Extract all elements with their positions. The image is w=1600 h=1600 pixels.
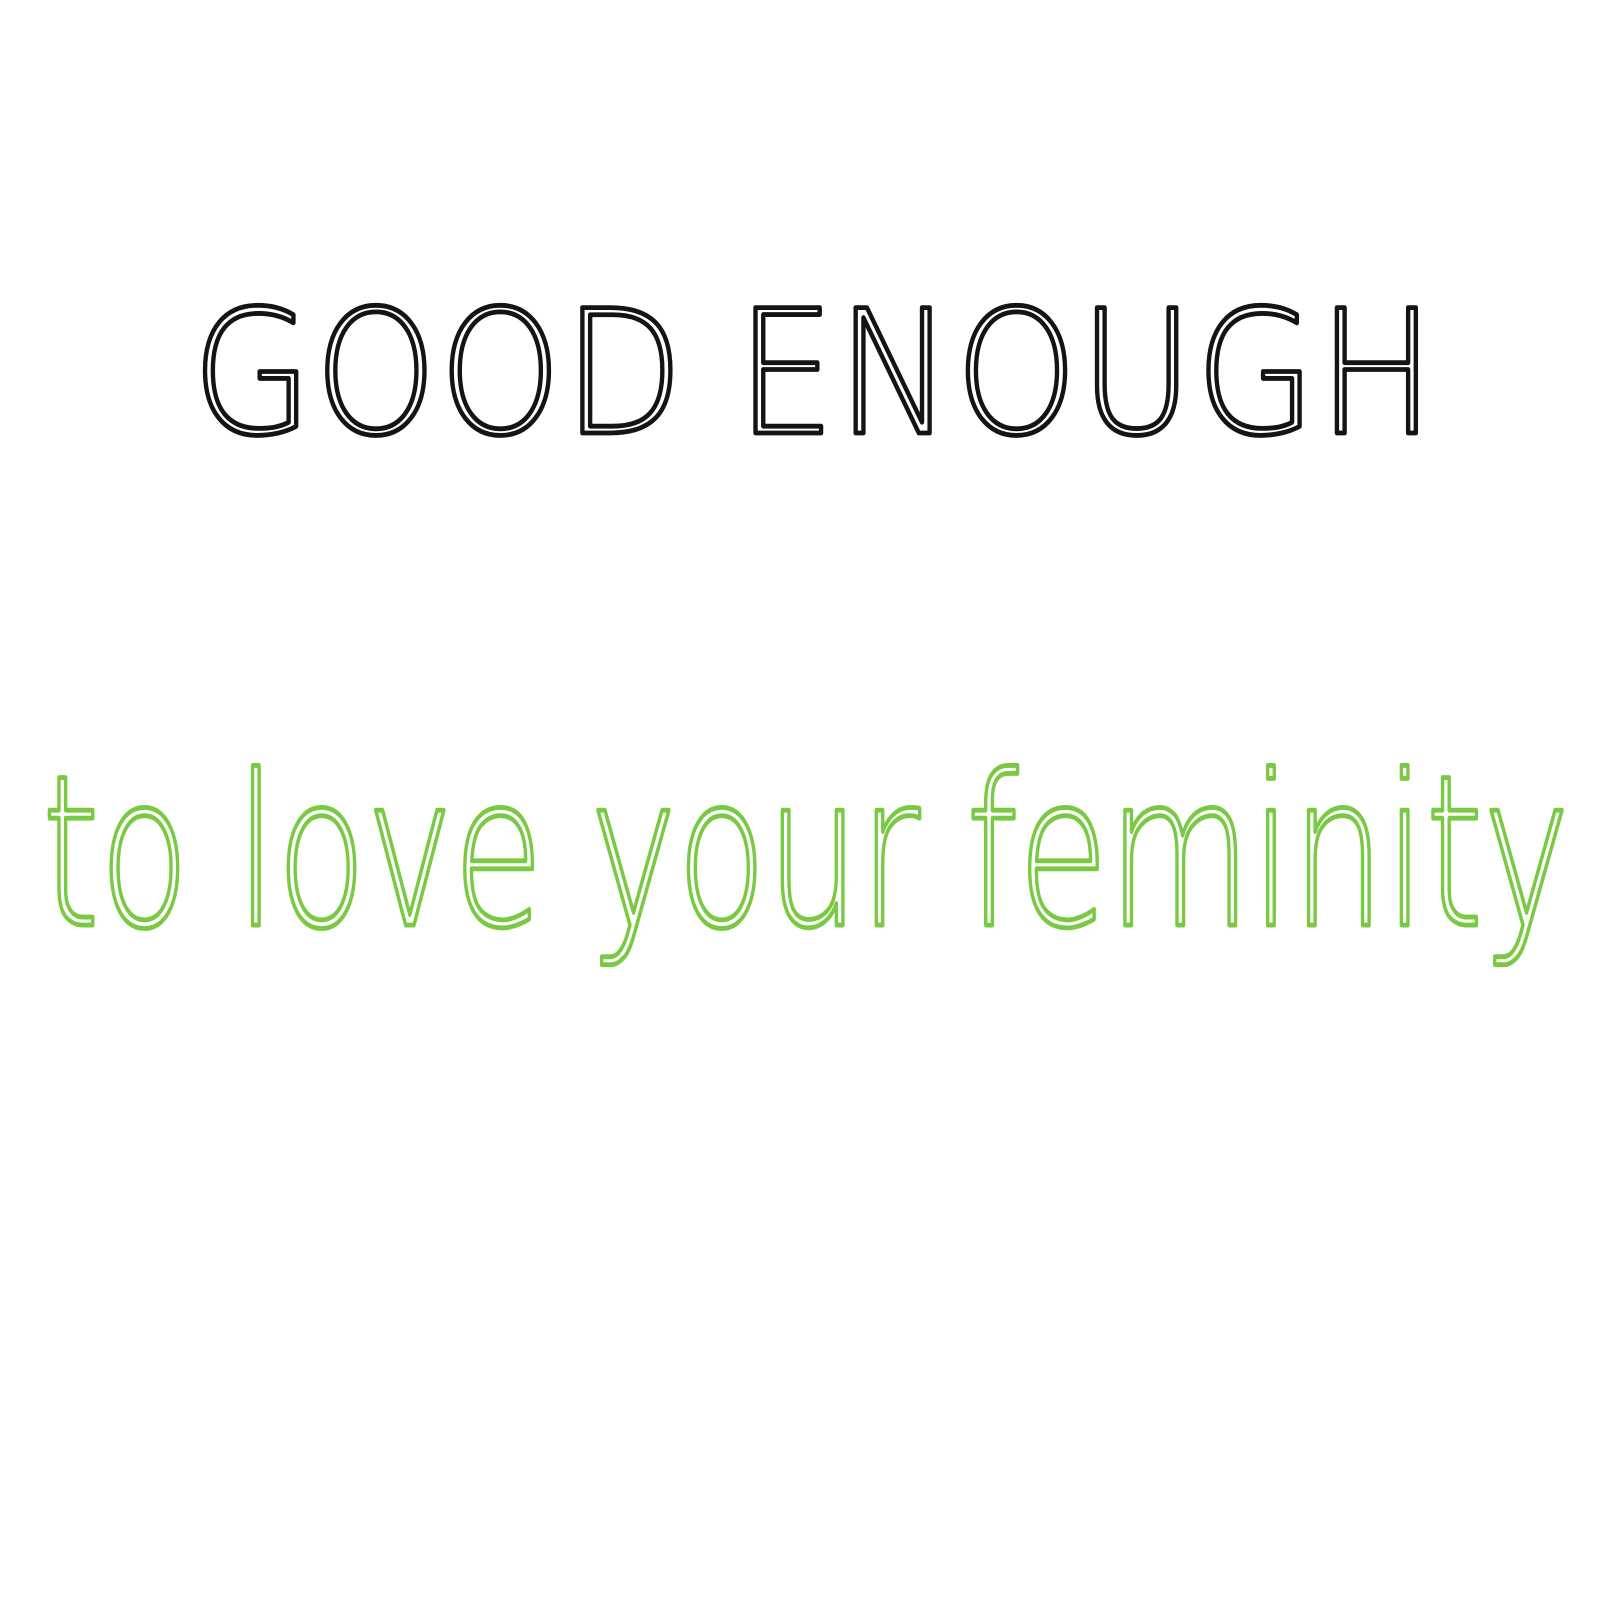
subline-text: to love your feminity <box>42 740 1570 975</box>
poster-canvas: GOOD ENOUGH to love your feminity <box>0 0 1600 1600</box>
headline-graphic: GOOD ENOUGH <box>0 250 1600 490</box>
subline-graphic: to love your feminity <box>0 740 1600 1000</box>
headline-text: GOOD ENOUGH <box>192 274 1437 474</box>
